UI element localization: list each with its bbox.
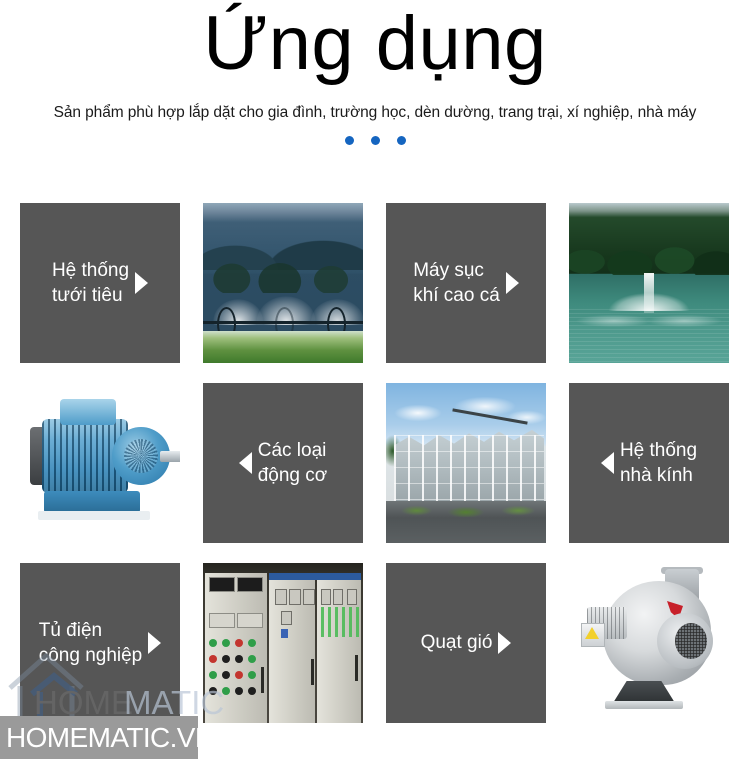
page-title: Ứng dụng	[0, 0, 750, 82]
tile-may-suc-khi-cao-ca[interactable]: Máy sục khí cao cá	[386, 203, 546, 363]
separator-dot	[371, 136, 380, 145]
motor-shaft-shape	[160, 451, 180, 462]
grass-field-shape	[203, 331, 363, 363]
panel-button-shape	[222, 639, 230, 647]
panel-switch-shape	[303, 589, 315, 605]
cabinet-handle-shape	[355, 655, 358, 681]
panel-indicator-shape	[281, 629, 288, 638]
arrow-left-icon	[601, 452, 614, 474]
panel-button-array	[207, 637, 263, 711]
photo-centrifugal-blower-fan	[569, 563, 729, 723]
panel-button-shape	[235, 687, 243, 695]
motor-bell-ribs-shape	[124, 439, 158, 473]
panel-switch-shape	[321, 589, 331, 605]
page-subtitle: Sản phẩm phù hợp lắp dặt cho gia đình, t…	[0, 82, 750, 122]
photo-sprinkler-irrigation	[203, 203, 363, 363]
tile-tu-dien-cong-nghiep[interactable]: Tủ điện công nghiệp	[20, 563, 180, 723]
warning-triangle-icon	[585, 627, 599, 639]
arrow-right-icon	[506, 272, 519, 294]
glass-mullion-grid-shape	[394, 435, 544, 509]
arrow-right-icon	[135, 272, 148, 294]
tile-he-thong-tuoi-tieu[interactable]: Hệ thống tưới tiêu	[20, 203, 180, 363]
panel-button-shape	[209, 639, 217, 647]
cabinet-handle-shape	[261, 667, 264, 693]
panel-button-shape	[209, 687, 217, 695]
panel-switch-shape	[333, 589, 343, 605]
motor-foot-shape	[44, 491, 140, 513]
watermark-bar-text: HOMEMATIC.VN	[0, 722, 215, 754]
panel-button-shape	[235, 671, 243, 679]
panel-button-shape	[248, 671, 256, 679]
panel-switch-shape	[275, 589, 287, 605]
panel-button-shape	[222, 687, 230, 695]
photo-lake-aerator-fountain	[569, 203, 729, 363]
tile-label-text: Hệ thống tưới tiêu	[52, 258, 129, 308]
panel-button-shape	[209, 671, 217, 679]
panel-button-shape	[209, 655, 217, 663]
panel-button-shape	[248, 687, 256, 695]
panel-button-shape	[222, 655, 230, 663]
panel-button-shape	[235, 639, 243, 647]
cabinet-handle-shape	[311, 659, 314, 685]
tile-label-text: Máy sục khí cao cá	[413, 258, 500, 308]
tile-label-text: Hệ thống nhà kính	[620, 438, 697, 488]
water-ripple-shape	[569, 309, 729, 363]
panel-switch-shape	[281, 611, 292, 625]
panel-button-shape	[235, 655, 243, 663]
blower-base-plate-shape	[605, 701, 683, 709]
panel-led-array-shape	[321, 607, 361, 637]
photo-electric-motor	[20, 383, 180, 543]
panel-button-shape	[248, 655, 256, 663]
panel-meter-shape	[209, 613, 235, 628]
motor-junction-box-shape	[60, 399, 116, 425]
separator-dot	[397, 136, 406, 145]
panel-button-shape	[222, 671, 230, 679]
cabinet-stripe-shape	[269, 573, 361, 580]
panel-meter-shape	[237, 577, 263, 592]
arrow-right-icon	[498, 632, 511, 654]
arrow-left-icon	[239, 452, 252, 474]
dots-separator	[0, 122, 750, 145]
arrow-right-icon	[148, 632, 161, 654]
separator-dot	[345, 136, 354, 145]
panel-meter-shape	[237, 613, 263, 628]
tile-label-text: Quạt gió	[421, 630, 493, 655]
photo-industrial-control-panel	[203, 563, 363, 723]
tile-cac-loai-dong-co[interactable]: Các loại động cơ	[203, 383, 363, 543]
photo-greenhouse	[386, 383, 546, 543]
tile-label-text: Các loại động cơ	[258, 438, 328, 488]
application-grid: Hệ thống tưới tiêu Máy sục khí cao cá	[20, 203, 730, 723]
panel-button-shape	[248, 639, 256, 647]
motor-base-shadow-shape	[38, 511, 150, 520]
blower-inlet-mesh-shape	[675, 623, 707, 659]
panel-meter-shape	[209, 577, 235, 592]
tile-he-thong-nha-kinh[interactable]: Hệ thống nhà kính	[569, 383, 729, 543]
grass-verge-shape	[392, 501, 546, 517]
panel-switch-shape	[289, 589, 301, 605]
tile-label-text: Tủ điện công nghiệp	[39, 618, 143, 668]
panel-switch-shape	[347, 589, 357, 605]
tile-quat-gio[interactable]: Quạt gió	[386, 563, 546, 723]
